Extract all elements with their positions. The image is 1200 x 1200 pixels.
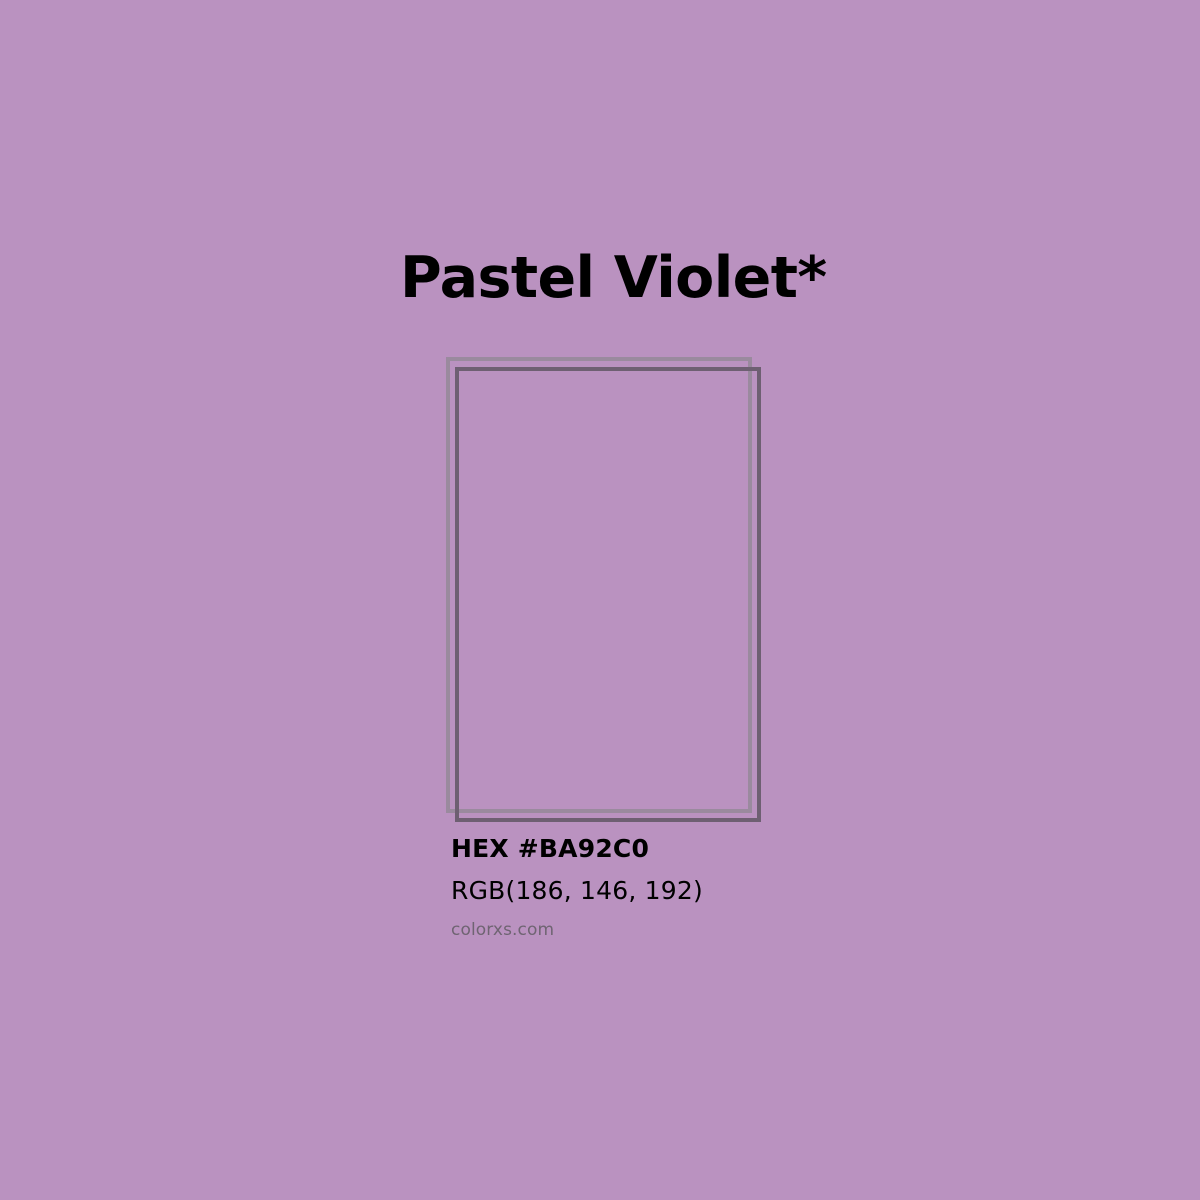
hex-value: HEX #BA92C0 <box>451 832 971 866</box>
page-title: Pastel Violet* <box>400 246 827 310</box>
swatch-frame-outer <box>446 357 752 813</box>
color-info-block: HEX #BA92C0 RGB(186, 146, 192) colorxs.c… <box>451 832 971 958</box>
rgb-value: RGB(186, 146, 192) <box>451 874 971 908</box>
swatch-frame-inner <box>455 367 761 822</box>
color-swatch-graphic <box>0 0 1200 1200</box>
color-swatch-fill <box>459 371 757 818</box>
color-swatch-page: Pastel Violet* HEX #BA92C0 RGB(186, 146,… <box>0 0 1200 1200</box>
site-credit: colorxs.com <box>451 919 971 941</box>
